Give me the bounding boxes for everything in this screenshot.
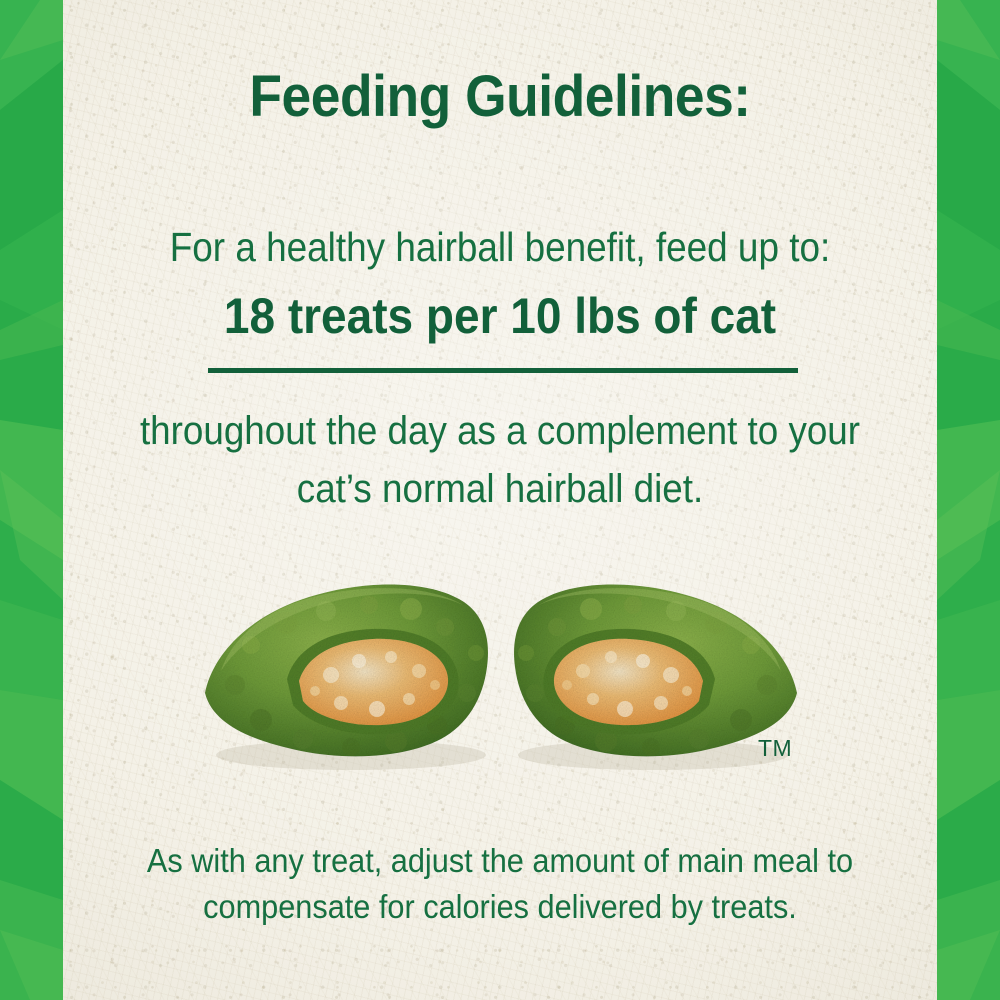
footnote-text: As with any treat, adjust the amount of … bbox=[112, 838, 888, 930]
dosage-underline-rule bbox=[208, 368, 798, 373]
footnote-line-2: compensate for calories delivered by tre… bbox=[112, 884, 888, 930]
left-decorative-band bbox=[0, 0, 63, 1000]
cat-treat-photo bbox=[191, 575, 811, 775]
panel-content: Feeding Guidelines: For a healthy hairba… bbox=[63, 0, 937, 1000]
detail-instruction-text: throughout the day as a complement to yo… bbox=[116, 402, 883, 518]
page-title: Feeding Guidelines: bbox=[98, 63, 902, 130]
right-band-facets bbox=[937, 0, 1000, 1000]
dosage-statement: 18 treats per 10 lbs of cat bbox=[98, 287, 902, 345]
treat-half-left bbox=[205, 584, 488, 756]
feeding-guidelines-panel: Feeding Guidelines: For a healthy hairba… bbox=[0, 0, 1000, 1000]
detail-line-1: throughout the day as a complement to yo… bbox=[116, 402, 883, 460]
cat-treat-illustration bbox=[191, 575, 811, 775]
right-decorative-band bbox=[937, 0, 1000, 1000]
left-band-facets bbox=[0, 0, 63, 1000]
lead-instruction-text: For a healthy hairball benefit, feed up … bbox=[107, 224, 894, 271]
detail-line-2: cat’s normal hairball diet. bbox=[116, 460, 883, 518]
trademark-symbol: TM bbox=[758, 735, 792, 762]
footnote-line-1: As with any treat, adjust the amount of … bbox=[112, 838, 888, 884]
treat-half-right bbox=[514, 584, 797, 756]
